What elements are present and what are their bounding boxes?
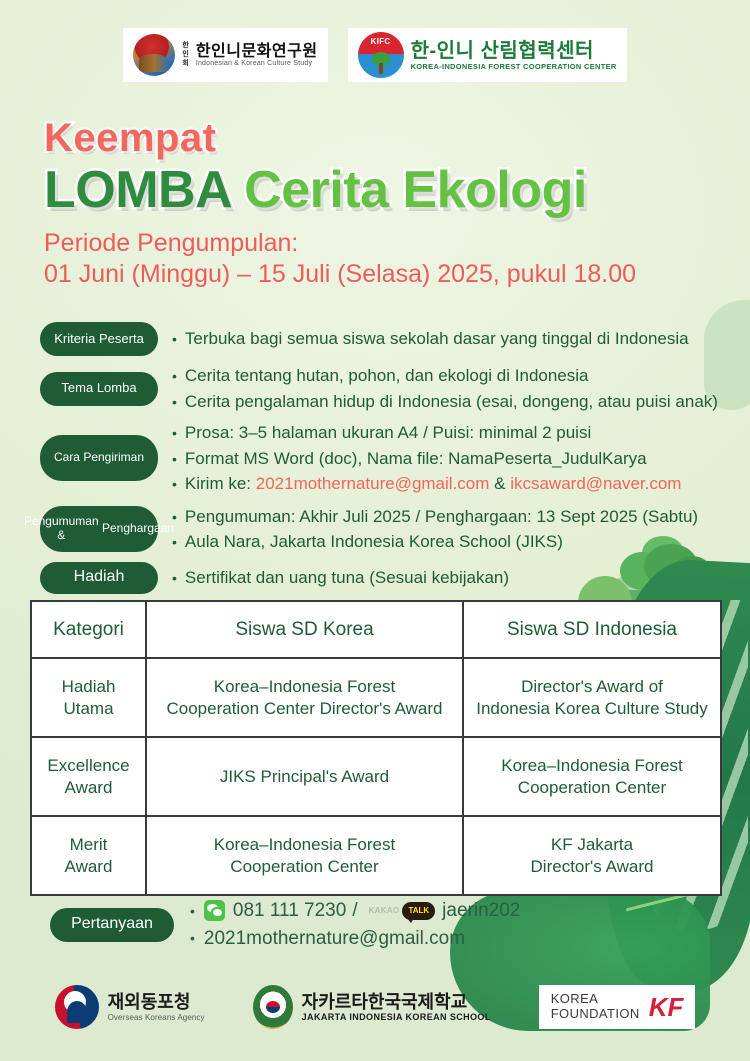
email-link-naver[interactable]: ikcsaward@naver.com [510, 474, 681, 493]
kf-line-2: FOUNDATION [551, 1007, 640, 1022]
kifc-logo-text: 한-인니 산림협력센터 KOREA-INDONESIA FOREST COOPE… [411, 40, 617, 71]
cell-line-2: Indonesia Korea Culture Study [476, 699, 708, 718]
wechat-icon[interactable] [204, 900, 225, 921]
cell-line-2: Award [65, 778, 113, 797]
table-cell-korea: Korea–Indonesia Forest Cooperation Cente… [147, 817, 464, 894]
bullets-cara-pengiriman: • Prosa: 3–5 halaman ukuran A4 / Puisi: … [172, 420, 730, 497]
bullet-text: Pengumuman: Akhir Juli 2025 / Penghargaa… [185, 504, 698, 530]
bullet-item: • Aula Nara, Jakarta Indonesia Korea Sch… [172, 529, 730, 555]
prize-table: Kategori Siswa SD Korea Siswa SD Indones… [30, 600, 722, 896]
ikcs-korean-name: 한인니문화연구원 [196, 43, 318, 61]
bullet-dot-icon: • [172, 532, 177, 553]
bullet-text: Cerita pengalaman hidup di Indonesia (es… [185, 389, 718, 415]
info-section: Kriteria Peserta • Terbuka bagi semua si… [40, 322, 730, 601]
contact-line-email: • 2021mothernature@gmail.com [190, 925, 520, 953]
bullets-hadiah: • Sertifikat dan uang tuna (Sesuai kebij… [172, 565, 730, 591]
period-value: 01 Juni (Minggu) – 15 Juli (Selasa) 2025… [44, 259, 740, 290]
contact-line-phone: • 081 111 7230 / KAKAO TALK jaerin202 [190, 897, 520, 925]
bullet-dot-icon: • [172, 423, 177, 444]
title-lomba: LOMBA [44, 161, 230, 219]
bullet-dot-icon: • [172, 366, 177, 387]
kifc-english-name: KOREA-INDONESIA FOREST COOPERATION CENTE… [411, 62, 617, 71]
bullet-dot-icon: • [190, 901, 195, 921]
ikcs-char-3: 회 [182, 60, 188, 68]
bullet-dot-icon: • [172, 474, 177, 495]
pill-line-1: Cara [54, 451, 80, 465]
kifc-emblem-icon: KIFC [358, 32, 404, 78]
kf-line-1: KOREA [551, 992, 640, 1007]
table-header-siswa-sd-korea: Siswa SD Korea [147, 602, 464, 657]
cell-line-2: Award [65, 857, 113, 876]
table-row: Merit Award Korea–Indonesia Forest Coope… [32, 817, 720, 894]
title-cerita-ekologi: Cerita Ekologi [244, 161, 587, 219]
page-title: LOMBA Cerita Ekologi [44, 164, 740, 216]
poster-root: 한 인 회 한인니문화연구원 Indonesian & Korean Cultu… [0, 0, 750, 1061]
table-header-kategori: Kategori [32, 602, 147, 657]
pill-line-1: Pengumuman & [24, 515, 99, 543]
kakao-prefix-label: KAKAO [369, 905, 400, 917]
ikcs-side-characters: 한 인 회 [182, 42, 188, 68]
bullet-dot-icon: • [190, 928, 195, 948]
table-cell-category: Hadiah Utama [32, 659, 147, 736]
bullet-dot-icon: • [172, 392, 177, 413]
info-row-tema-lomba: Tema Lomba • Cerita tentang hutan, pohon… [40, 363, 730, 414]
cell-line-1: JIKS Principal's Award [220, 767, 389, 786]
bullet-item: • Cerita pengalaman hidup di Indonesia (… [172, 389, 730, 415]
korea-foundation-text: KOREA FOUNDATION [551, 992, 640, 1022]
kirim-ke-wrapper: Kirim ke: 2021mothernature@gmail.com & i… [185, 471, 682, 497]
kifc-logo: KIFC 한-인니 산림협력센터 KOREA-INDONESIA FOREST … [348, 28, 627, 82]
bullet-dot-icon: • [172, 507, 177, 528]
pill-hadiah: Hadiah [40, 562, 158, 594]
overseas-koreans-agency-icon [55, 985, 99, 1029]
info-row-pengumuman-penghargaan: Pengumuman & Penghargaan • Pengumuman: A… [40, 504, 730, 555]
kifc-tree-icon [372, 52, 390, 74]
email-link-gmail[interactable]: 2021mothernature@gmail.com [256, 474, 490, 493]
contact-lines: • 081 111 7230 / KAKAO TALK jaerin202 • … [190, 897, 520, 952]
footer-korean-name: 재외동포청 [108, 992, 205, 1013]
pill-line-2: Pengiriman [83, 451, 144, 465]
kakaotalk-icon[interactable]: KAKAO TALK [369, 902, 436, 920]
contact-phone[interactable]: 081 111 7230 [233, 897, 346, 925]
bullet-item: • Terbuka bagi semua siswa sekolah dasar… [172, 326, 730, 352]
table-header-row: Kategori Siswa SD Korea Siswa SD Indones… [32, 602, 720, 659]
table-cell-category: Excellence Award [32, 738, 147, 815]
pill-pertanyaan: Pertanyaan [50, 908, 174, 942]
bullet-dot-icon: • [172, 449, 177, 470]
cell-line-1: Director's Award of [521, 677, 663, 696]
pill-line-2: Penghargaan [102, 522, 174, 536]
contact-section: Pertanyaan • 081 111 7230 / KAKAO TALK j… [50, 897, 520, 952]
cell-line-1: Korea–Indonesia Forest [501, 756, 682, 775]
kirim-ke-prefix: Kirim ke: [185, 474, 256, 493]
bullets-tema-lomba: • Cerita tentang hutan, pohon, dan ekolo… [172, 363, 730, 414]
table-cell-indonesia: Director's Award of Indonesia Korea Cult… [464, 659, 720, 736]
kakao-bubble-label: TALK [402, 902, 435, 920]
contact-separator: / [352, 897, 357, 925]
kifc-emblem-label: KIFC [358, 37, 404, 46]
cell-line-2: Cooperation Center [230, 857, 378, 876]
pill-cara-pengiriman: Cara Pengiriman [40, 435, 158, 481]
table-cell-category: Merit Award [32, 817, 147, 894]
cell-line-1: Excellence [47, 756, 129, 775]
email-separator: & [489, 474, 510, 493]
cell-line-1: Hadiah [62, 677, 116, 696]
kifc-korean-name: 한-인니 산림협력센터 [411, 40, 617, 62]
footer-text: 재외동포청 Overseas Koreans Agency [108, 992, 205, 1022]
ikcs-logo: 한 인 회 한인니문화연구원 Indonesian & Korean Cultu… [123, 28, 327, 82]
period-label: Periode Pengumpulan: [44, 228, 740, 259]
cell-line-1: Merit [70, 835, 108, 854]
table-header-siswa-sd-indonesia: Siswa SD Indonesia [464, 602, 720, 657]
bullets-pengumuman-penghargaan: • Pengumuman: Akhir Juli 2025 / Pengharg… [172, 504, 730, 555]
header-logos: 한 인 회 한인니문화연구원 Indonesian & Korean Cultu… [0, 28, 750, 82]
table-row: Hadiah Utama Korea–Indonesia Forest Coop… [32, 659, 720, 738]
cell-line-2: Director's Award [531, 857, 654, 876]
footer-korean-name: 자카르타한국국제학교 [302, 992, 491, 1013]
table-cell-indonesia: KF Jakarta Director's Award [464, 817, 720, 894]
footer-item-korea-foundation: KOREA FOUNDATION KF [539, 985, 696, 1029]
contact-email[interactable]: 2021mothernature@gmail.com [204, 925, 465, 953]
bullet-item: • Sertifikat dan uang tuna (Sesuai kebij… [172, 565, 730, 591]
bullet-text: Prosa: 3–5 halaman ukuran A4 / Puisi: mi… [185, 420, 591, 446]
table-cell-indonesia: Korea–Indonesia Forest Cooperation Cente… [464, 738, 720, 815]
info-row-cara-pengiriman: Cara Pengiriman • Prosa: 3–5 halaman uku… [40, 420, 730, 497]
bullets-kriteria-peserta: • Terbuka bagi semua siswa sekolah dasar… [172, 326, 730, 352]
bullet-text: Cerita tentang hutan, pohon, dan ekologi… [185, 363, 589, 389]
table-cell-korea: Korea–Indonesia Forest Cooperation Cente… [147, 659, 464, 736]
bullet-dot-icon: • [172, 329, 177, 350]
bullet-text: Aula Nara, Jakarta Indonesia Korea Schoo… [185, 529, 563, 555]
jiks-school-icon [253, 985, 293, 1029]
title-eyebrow: Keempat [44, 118, 740, 158]
cell-line-1: Korea–Indonesia Forest [214, 677, 395, 696]
bullet-item: • Cerita tentang hutan, pohon, dan ekolo… [172, 363, 730, 389]
pill-tema-lomba: Tema Lomba [40, 372, 158, 406]
period-block: Periode Pengumpulan: 01 Juni (Minggu) – … [44, 228, 740, 291]
cell-line-1: Korea–Indonesia Forest [214, 835, 395, 854]
cell-line-2: Utama [63, 699, 113, 718]
bullet-text: Sertifikat dan uang tuna (Sesuai kebijak… [185, 565, 509, 591]
pill-kriteria-peserta: Kriteria Peserta [40, 322, 158, 356]
ikcs-char-1: 한 [182, 42, 188, 50]
bullet-text: Terbuka bagi semua siswa sekolah dasar y… [185, 326, 689, 352]
info-row-hadiah: Hadiah • Sertifikat dan uang tuna (Sesua… [40, 562, 730, 594]
footer-item-jiks: 자카르타한국국제학교 JAKARTA INDONESIA KOREAN SCHO… [253, 985, 491, 1029]
bullet-item: • Format MS Word (doc), Nama file: NamaP… [172, 446, 730, 472]
cell-line-2: Cooperation Center [518, 778, 666, 797]
pill-pengumuman-penghargaan: Pengumuman & Penghargaan [40, 506, 158, 552]
ikcs-char-2: 인 [182, 51, 188, 59]
bullet-item: • Pengumuman: Akhir Juli 2025 / Pengharg… [172, 504, 730, 530]
bullet-item: • Prosa: 3–5 halaman ukuran A4 / Puisi: … [172, 420, 730, 446]
cell-line-2: Cooperation Center Director's Award [166, 699, 442, 718]
footer-english-name: JAKARTA INDONESIA KOREAN SCHOOL [302, 1012, 491, 1022]
ikcs-emblem-icon [133, 34, 175, 76]
bullet-item-kirim-ke: • Kirim ke: 2021mothernature@gmail.com &… [172, 471, 730, 497]
cell-line-1: KF Jakarta [551, 835, 633, 854]
footer-item-overseas-koreans-agency: 재외동포청 Overseas Koreans Agency [55, 985, 205, 1029]
table-cell-korea: JIKS Principal's Award [147, 738, 464, 815]
ikcs-logo-text: 한인니문화연구원 Indonesian & Korean Culture Stu… [196, 43, 318, 68]
footer-english-name: Overseas Koreans Agency [108, 1013, 205, 1022]
footer-logos: 재외동포청 Overseas Koreans Agency 자카르타한국국제학교… [0, 985, 750, 1029]
title-block: Keempat LOMBA Cerita Ekologi Periode Pen… [44, 118, 740, 291]
footer-text: 자카르타한국국제학교 JAKARTA INDONESIA KOREAN SCHO… [302, 992, 491, 1023]
bullet-dot-icon: • [172, 568, 177, 589]
bullet-text: Format MS Word (doc), Nama file: NamaPes… [185, 446, 647, 472]
contact-kakao-id[interactable]: jaerin202 [442, 897, 520, 925]
table-row: Excellence Award JIKS Principal's Award … [32, 738, 720, 817]
ikcs-english-name: Indonesian & Korean Culture Study [196, 60, 318, 67]
korea-foundation-icon: KF [649, 994, 684, 1020]
info-row-kriteria-peserta: Kriteria Peserta • Terbuka bagi semua si… [40, 322, 730, 356]
